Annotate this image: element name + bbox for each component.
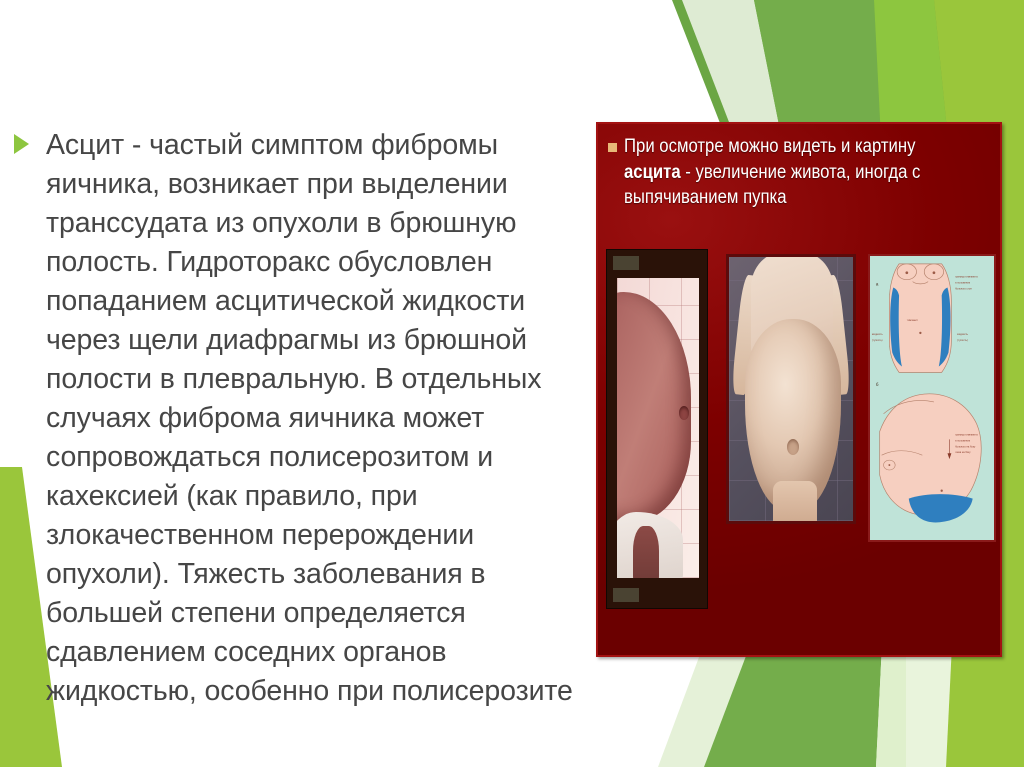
triangle-bullet-icon bbox=[14, 126, 46, 159]
square-bullet-icon bbox=[608, 134, 624, 152]
slide: Асцит - частый симптом фибромы яичника, … bbox=[0, 0, 1024, 767]
left-text-column: Асцит - частый симптом фибромы яичника, … bbox=[14, 126, 574, 711]
heading-part-1: При осмотре можно видеть и картину bbox=[624, 136, 915, 157]
lateral-profile-photo bbox=[606, 249, 708, 609]
panel-a-letter: а bbox=[876, 283, 879, 288]
bullet-item: Асцит - частый симптом фибромы яичника, … bbox=[14, 126, 574, 711]
heading-emphasis: асцита bbox=[624, 162, 681, 183]
ascites-description-text: Асцит - частый симптом фибромы яичника, … bbox=[46, 126, 574, 711]
label-fluid-right-1: жидкость bbox=[957, 333, 968, 336]
panel-b-letter: б bbox=[876, 382, 879, 388]
legs bbox=[773, 481, 817, 524]
label-border-bottom-2: в положении bbox=[955, 439, 970, 442]
frontal-clinical-photo bbox=[726, 254, 856, 524]
umbilicus bbox=[787, 439, 799, 455]
label-border-bottom-1: граница тимпанита bbox=[955, 433, 978, 436]
film-tab-top bbox=[613, 256, 639, 270]
label-border-bottom-4: лежа на боку bbox=[955, 451, 971, 454]
label-fluid-left-1: жидкость bbox=[872, 333, 883, 336]
label-fluid-right-2: (тупость) bbox=[957, 339, 968, 342]
label-border-top-2: в положении bbox=[955, 282, 970, 285]
red-panel-heading-text: При осмотре можно видеть и картину асцит… bbox=[624, 134, 944, 211]
leg bbox=[633, 526, 659, 578]
image-strip: а тимпанит граница тимпанита в положении… bbox=[606, 254, 992, 544]
label-border-top-1: граница тимпанита bbox=[955, 276, 978, 279]
red-panel-heading: При осмотре можно видеть и картину асцит… bbox=[608, 134, 988, 211]
label-tympanic: тимпанит bbox=[907, 319, 919, 322]
red-image-panel: При осмотре можно видеть и картину асцит… bbox=[596, 122, 1002, 657]
label-border-bottom-3: больного на боку bbox=[955, 445, 976, 448]
label-border-top-3: больного стоя bbox=[955, 288, 972, 291]
umbilicus bbox=[679, 406, 689, 420]
film-tab-bottom bbox=[613, 588, 639, 602]
ascites-diagram: а тимпанит граница тимпанита в положении… bbox=[868, 254, 996, 542]
lateral-photo-content bbox=[617, 278, 699, 578]
label-fluid-left-2: (тупость) bbox=[872, 339, 883, 342]
